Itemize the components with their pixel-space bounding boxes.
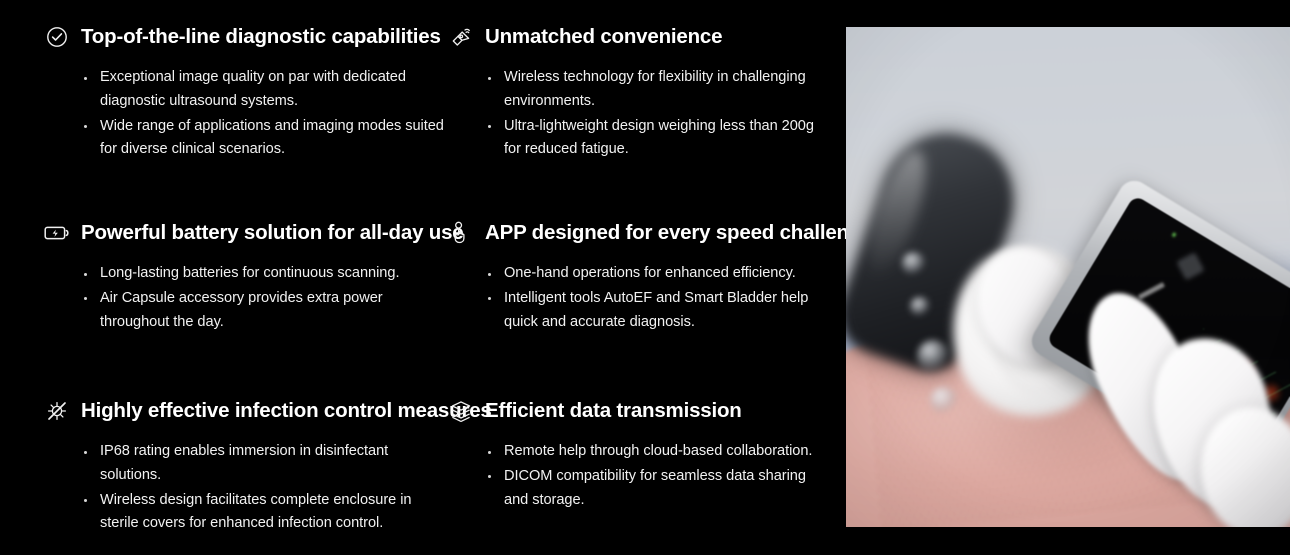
feature-bullet-list: Long-lasting batteries for continuous sc… (44, 262, 444, 334)
battery-charging-icon (44, 220, 70, 246)
touch-hand-icon (448, 220, 474, 246)
feature-heading: Highly effective infection control measu… (44, 396, 444, 426)
list-item: Wide range of applications and imaging m… (84, 115, 444, 163)
list-item: IP68 rating enables immersion in disinfe… (84, 440, 444, 488)
feature-title: Powerful battery solution for all-day us… (81, 223, 464, 244)
feature-title: APP designed for every speed challenge (485, 223, 872, 244)
feature-card-battery-solution: Powerful battery solution for all-day us… (44, 218, 444, 334)
feature-heading: Unmatched convenience (448, 22, 828, 52)
feature-heading: APP designed for every speed challenge (448, 218, 828, 248)
feature-bullet-list: Exceptional image quality on par with de… (44, 66, 444, 162)
feature-grid: Top-of-the-line diagnostic capabilities … (0, 0, 846, 555)
list-item: Wireless design facilitates complete enc… (84, 489, 444, 537)
feature-card-app-speed: APP designed for every speed challenge O… (448, 218, 828, 334)
photo-probe-button (917, 340, 949, 372)
feature-card-diagnostic-capabilities: Top-of-the-line diagnostic capabilities … (44, 22, 444, 162)
wireless-probe-icon (448, 24, 474, 50)
product-photo (846, 27, 1290, 527)
data-layers-icon (448, 398, 474, 424)
photo-screen-label (1138, 282, 1166, 300)
feature-title: Top-of-the-line diagnostic capabilities (81, 27, 441, 48)
feature-bullet-list: Remote help through cloud-based collabor… (448, 440, 828, 512)
photo-scene (846, 27, 1290, 527)
list-item: DICOM compatibility for seamless data sh… (488, 465, 828, 513)
feature-bullet-list: One-hand operations for enhanced efficie… (448, 262, 828, 334)
feature-bullet-list: IP68 rating enables immersion in disinfe… (44, 440, 444, 536)
photo-probe-button (930, 387, 957, 413)
photo-probe-button (910, 297, 930, 316)
check-circle-icon (44, 24, 70, 50)
feature-bullet-list: Wireless technology for flexibility in c… (448, 66, 828, 162)
feature-heading: Powerful battery solution for all-day us… (44, 218, 444, 248)
list-item: Air Capsule accessory provides extra pow… (84, 287, 444, 335)
list-item: Wireless technology for flexibility in c… (488, 66, 828, 114)
list-item: Intelligent tools AutoEF and Smart Bladd… (488, 287, 828, 335)
list-item: Exceptional image quality on par with de… (84, 66, 444, 114)
list-item: Ultra-lightweight design weighing less t… (488, 115, 828, 163)
photo-screen-badge (1176, 252, 1205, 280)
list-item: One-hand operations for enhanced efficie… (488, 262, 828, 286)
feature-title: Highly effective infection control measu… (81, 401, 492, 422)
feature-card-data-transmission: Efficient data transmission Remote help … (448, 396, 828, 512)
feature-card-unmatched-convenience: Unmatched convenience Wireless technolog… (448, 22, 828, 162)
feature-title: Efficient data transmission (485, 401, 742, 422)
feature-heading: Top-of-the-line diagnostic capabilities (44, 22, 444, 52)
feature-heading: Efficient data transmission (448, 396, 828, 426)
photo-screen-status-dot (1171, 232, 1176, 237)
feature-title: Unmatched convenience (485, 27, 722, 48)
feature-card-infection-control: Highly effective infection control measu… (44, 396, 444, 536)
no-germs-icon (44, 398, 70, 424)
list-item: Remote help through cloud-based collabor… (488, 440, 828, 464)
list-item: Long-lasting batteries for continuous sc… (84, 262, 444, 286)
feature-slide: Top-of-the-line diagnostic capabilities … (0, 0, 1290, 555)
